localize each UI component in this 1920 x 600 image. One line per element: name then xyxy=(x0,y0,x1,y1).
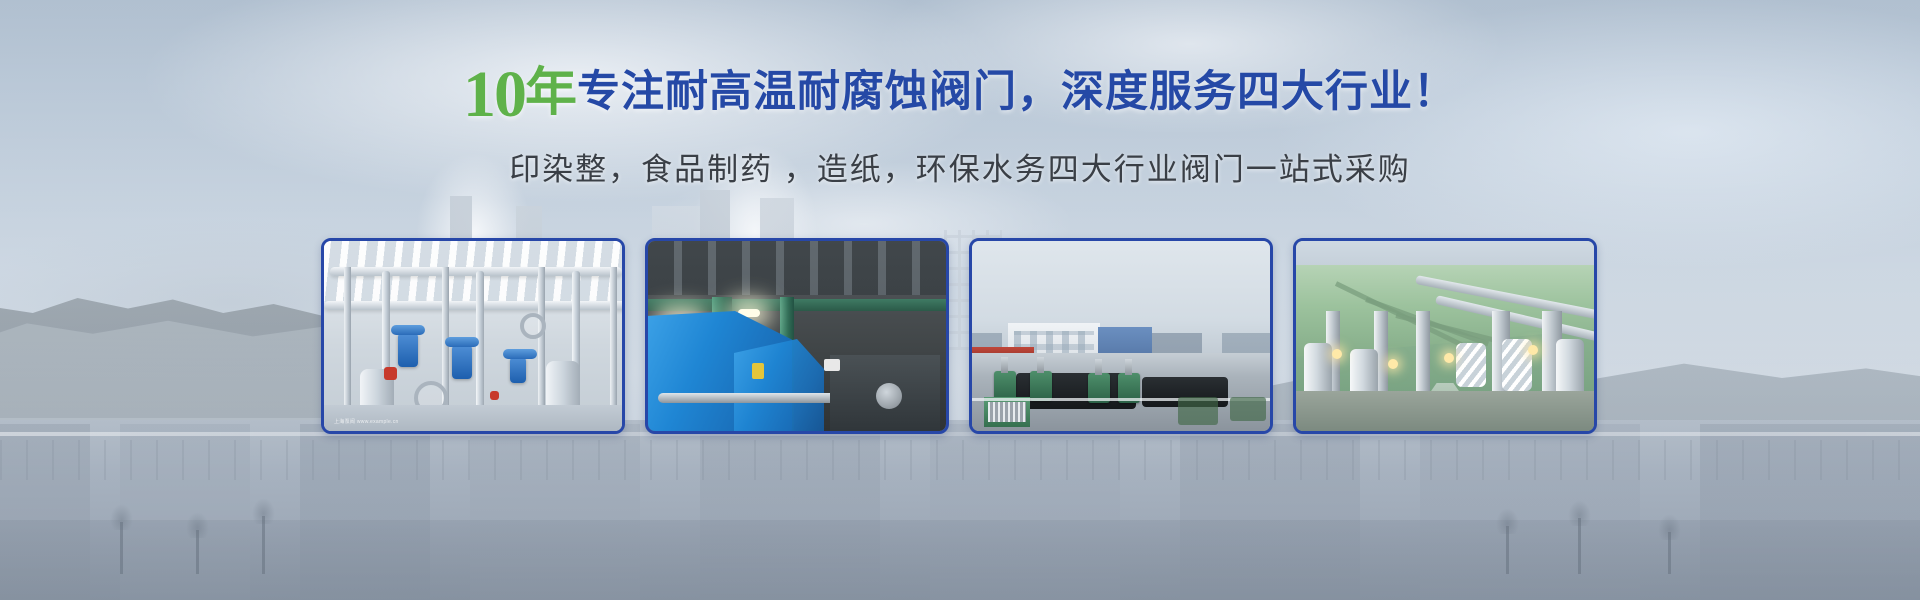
thumbnail-row: 上海泵阀 www.example.cn xyxy=(321,238,1603,434)
image-watermark: 上海泵阀 www.example.cn xyxy=(334,418,399,425)
photo-food-pharma: 上海泵阀 www.example.cn xyxy=(324,241,622,431)
thumbnail-paper-mill[interactable] xyxy=(1293,238,1597,434)
thumbnail-food-pharma[interactable]: 上海泵阀 www.example.cn xyxy=(321,238,625,434)
banner-subtitle: 印染整，食品制药 ，造纸，环保水务四大行业阀门一站式采购 xyxy=(0,144,1920,189)
thumbnail-water-treatment[interactable] xyxy=(969,238,1273,434)
foreground-roofs xyxy=(0,440,1920,480)
headline-rest: 专注耐高温耐腐蚀阀门，深度服务四大行业！ xyxy=(577,68,1457,116)
headline-year-unit: 年 xyxy=(525,64,577,122)
photo-water-treatment xyxy=(972,241,1270,431)
tree-3 xyxy=(262,516,265,574)
thumbnail-textile-dyeing[interactable] xyxy=(645,238,949,434)
tree-5 xyxy=(1578,518,1581,574)
headline-number: 10 xyxy=(463,58,525,131)
foreground-shadow xyxy=(0,520,1920,600)
tree-1 xyxy=(120,522,123,574)
tree-2 xyxy=(196,530,199,574)
photo-paper-mill xyxy=(1296,241,1594,431)
banner-headline: 10年专注耐高温耐腐蚀阀门，深度服务四大行业！ xyxy=(0,62,1920,128)
tree-6 xyxy=(1668,532,1671,574)
tree-4 xyxy=(1506,526,1509,574)
hero-banner: 10年专注耐高温耐腐蚀阀门，深度服务四大行业！ 印染整，食品制药 ，造纸，环保水… xyxy=(0,0,1920,600)
photo-textile-dyeing xyxy=(648,241,946,431)
